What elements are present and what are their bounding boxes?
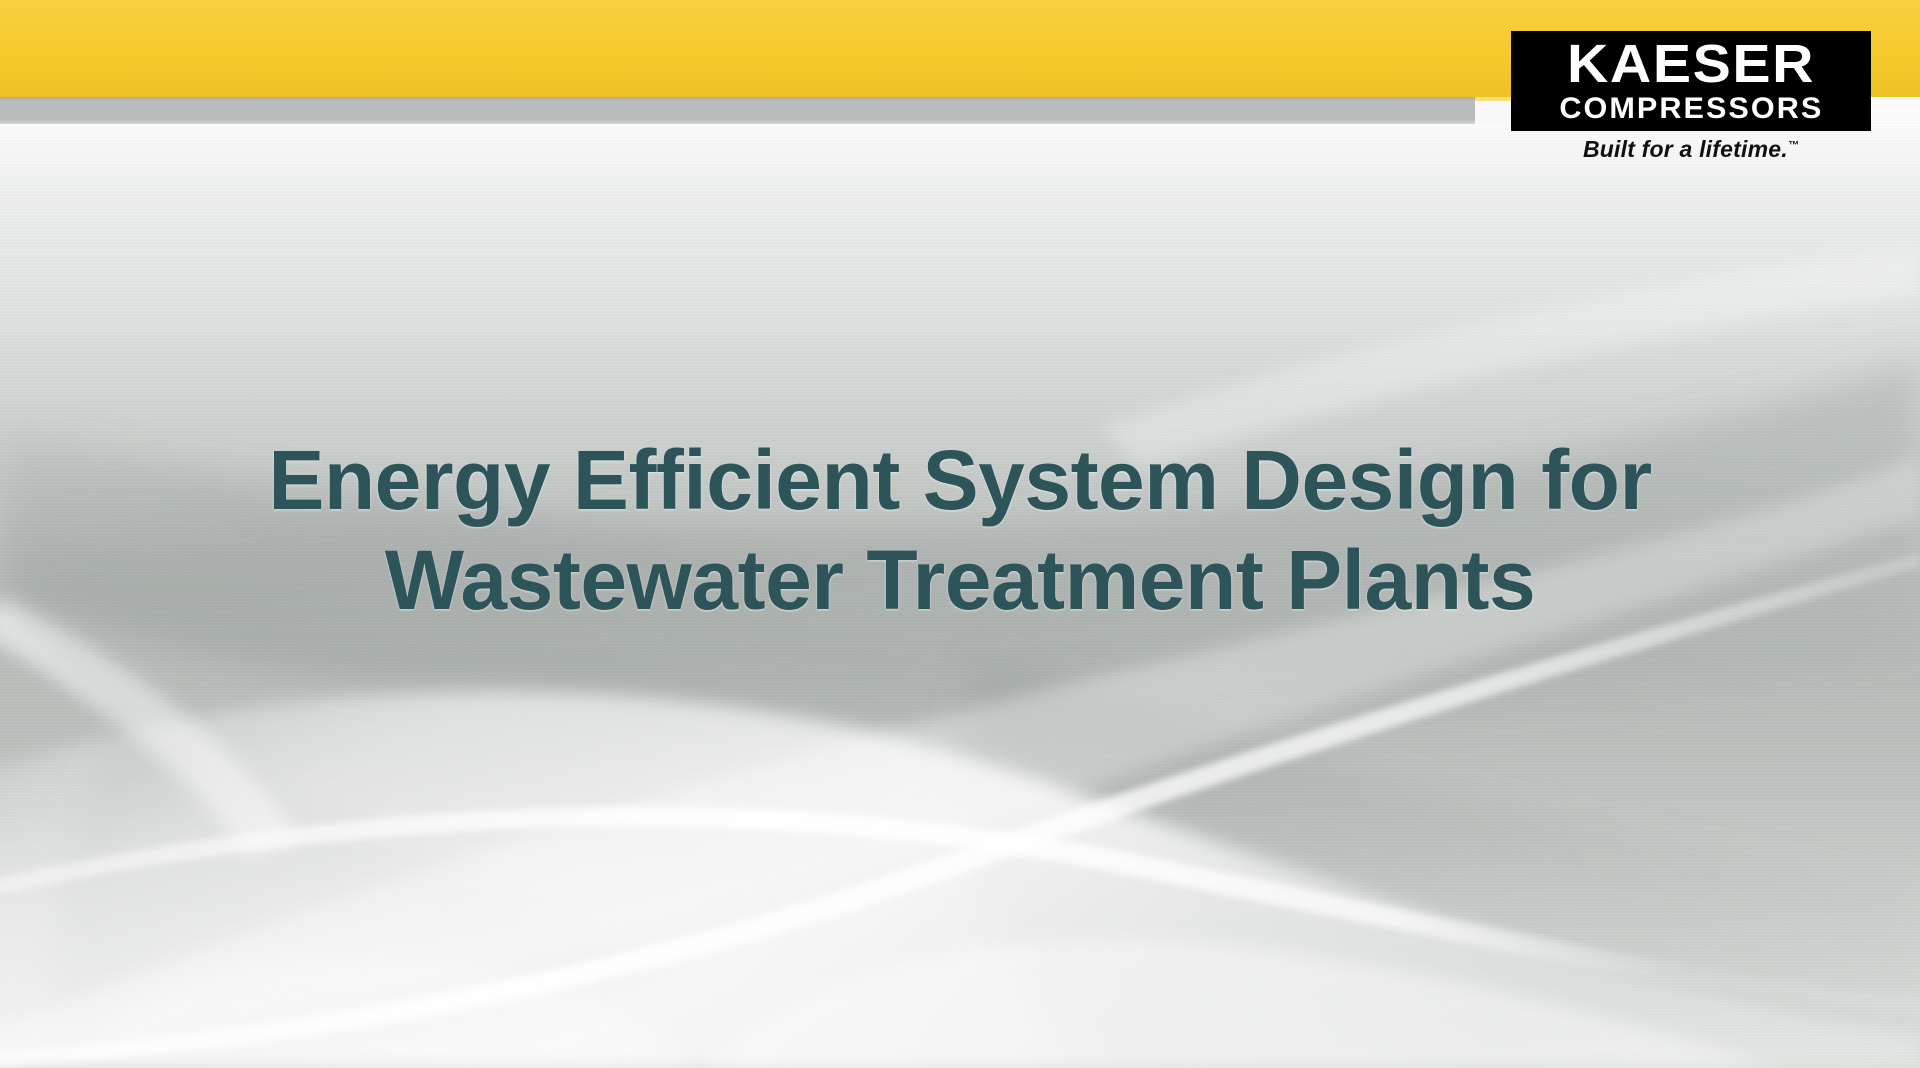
slide-title-line-1: Energy Efficient System Design for <box>0 430 1920 530</box>
header-gray-band-shading <box>0 97 1475 124</box>
logo-brand-text: KAESER <box>1567 36 1815 92</box>
logo-tagline: Built for a lifetime.™ <box>1511 136 1871 163</box>
slide-title-line-2: Wastewater Treatment Plants <box>0 530 1920 630</box>
logo-tagline-text: Built for a lifetime. <box>1583 136 1788 162</box>
presentation-slide: KAESER COMPRESSORS Built for a lifetime.… <box>0 0 1920 1068</box>
trademark-icon: ™ <box>1788 139 1799 151</box>
logo-subtitle-text: COMPRESSORS <box>1559 92 1823 125</box>
kaeser-logo: KAESER COMPRESSORS <box>1511 31 1871 131</box>
slide-title: Energy Efficient System Design for Waste… <box>0 430 1920 630</box>
